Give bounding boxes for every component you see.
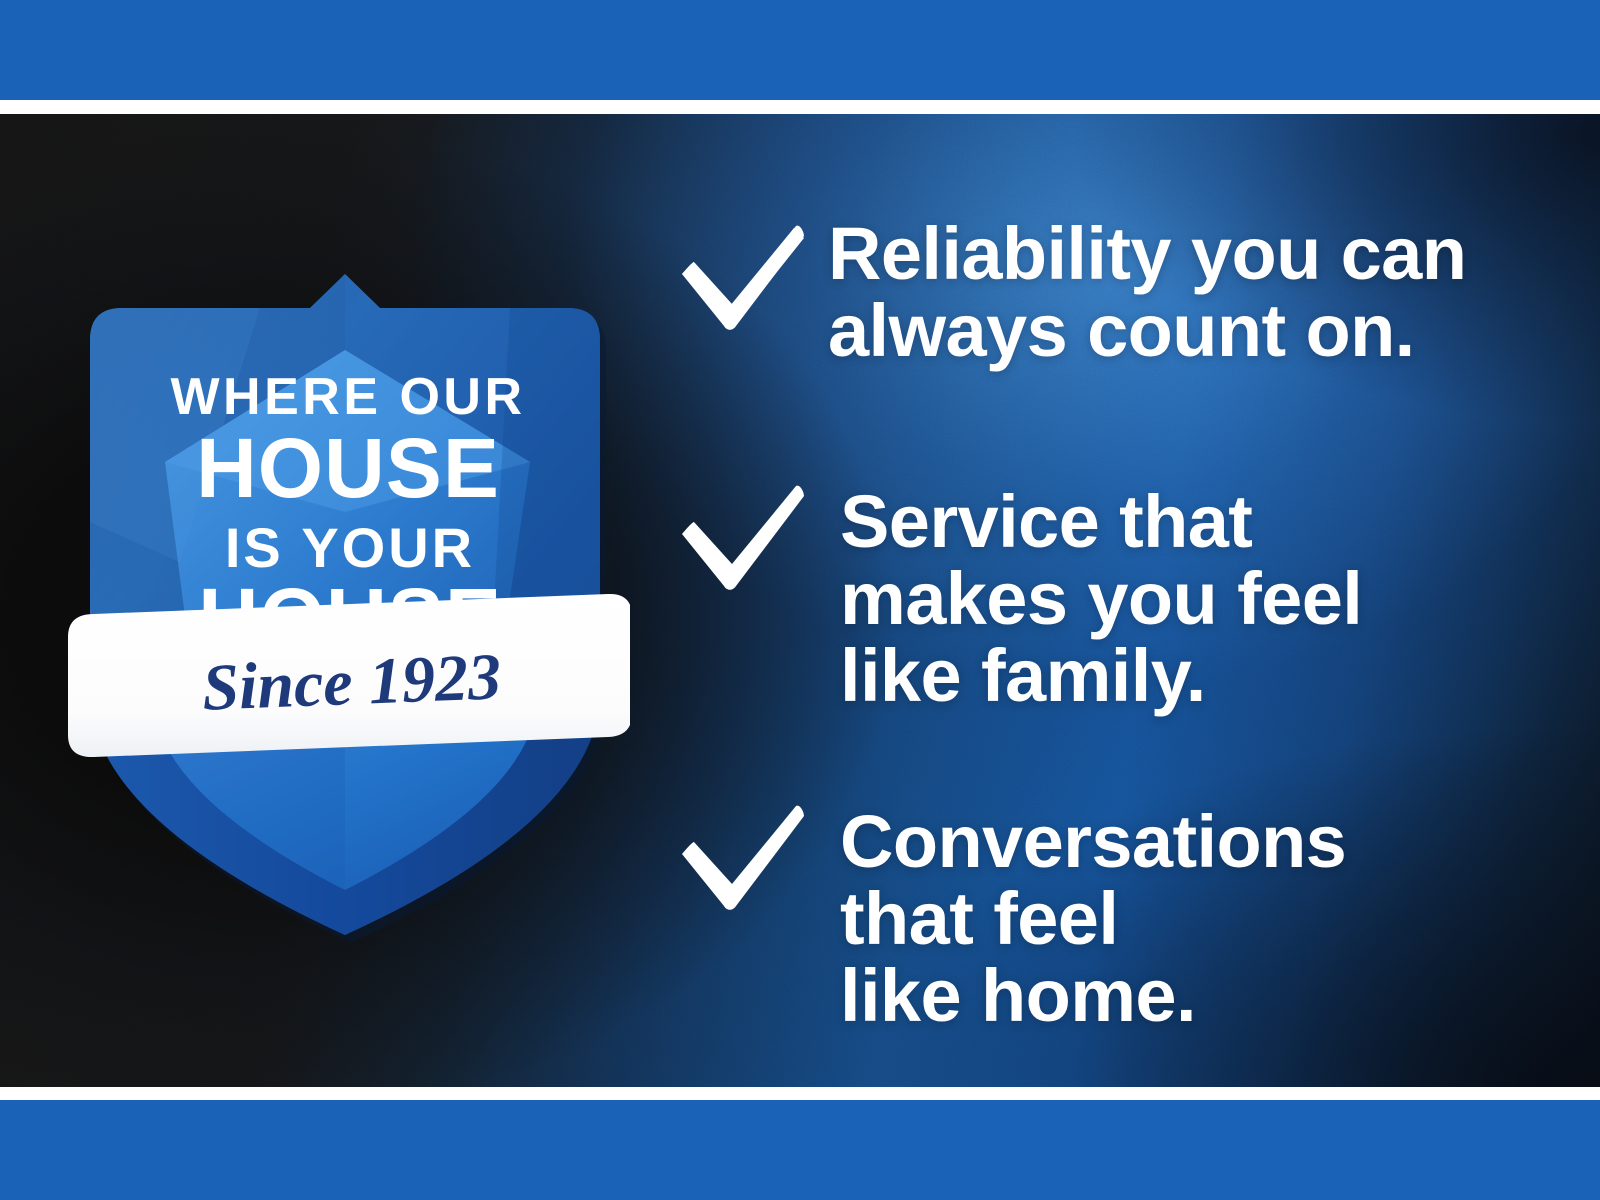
badge-ribbon-text: Since 1923 bbox=[201, 640, 502, 724]
checkmark-icon bbox=[670, 214, 810, 334]
checklist-item-service: Service that makes you feel like family. bbox=[670, 474, 1530, 715]
top-brand-bar bbox=[0, 0, 1600, 100]
promo-graphic: WHERE OUR HOUSE IS YOUR HOUSE Since 1923… bbox=[0, 0, 1600, 1200]
checkmark-icon bbox=[670, 474, 810, 594]
badge-line-1: WHERE OUR bbox=[170, 368, 525, 426]
checkmark-icon bbox=[670, 794, 810, 914]
checklist-item-text: Service that makes you feel like family. bbox=[840, 474, 1530, 715]
badge-line-3: IS YOUR bbox=[225, 516, 475, 579]
checklist-item-text: Conversations that feel like home. bbox=[840, 794, 1530, 1035]
bottom-brand-bar bbox=[0, 1100, 1600, 1200]
checklist-item-conversations: Conversations that feel like home. bbox=[670, 794, 1530, 1035]
shield-badge-logo: WHERE OUR HOUSE IS YOUR HOUSE Since 1923 bbox=[60, 262, 630, 952]
checklist-item-text: Reliability you can always count on. bbox=[828, 214, 1530, 370]
badge-line-2: HOUSE bbox=[196, 421, 500, 515]
benefits-checklist: Reliability you can always count on. Ser… bbox=[670, 114, 1530, 1087]
badge-ribbon: Since 1923 bbox=[68, 594, 630, 757]
checklist-item-reliability: Reliability you can always count on. bbox=[670, 214, 1530, 370]
